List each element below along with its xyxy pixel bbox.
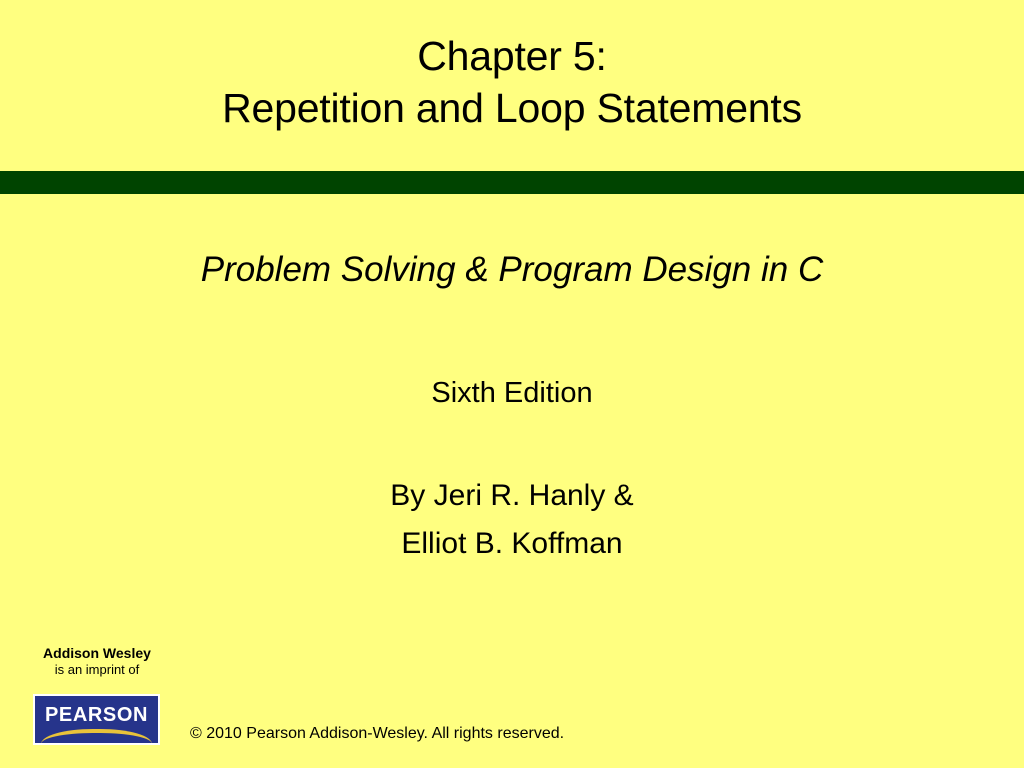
title-line-1: Chapter 5:	[0, 30, 1024, 82]
copyright-notice: © 2010 Pearson Addison-Wesley. All right…	[190, 724, 564, 744]
title-line-2: Repetition and Loop Statements	[0, 82, 1024, 134]
imprint-name: Addison Wesley	[33, 645, 161, 662]
author-line-1: By Jeri R. Hanly &	[0, 472, 1024, 520]
slide-canvas: Chapter 5: Repetition and Loop Statement…	[0, 0, 1024, 768]
author-line-2: Elliot B. Koffman	[0, 520, 1024, 568]
imprint-block: Addison Wesley is an imprint of	[33, 645, 161, 678]
authors-block: By Jeri R. Hanly & Elliot B. Koffman	[0, 472, 1024, 568]
book-title: Problem Solving & Program Design in C	[0, 248, 1024, 292]
page-title: Chapter 5: Repetition and Loop Statement…	[0, 30, 1024, 134]
imprint-subtext: is an imprint of	[33, 662, 161, 678]
pearson-arc-icon	[41, 729, 152, 745]
edition-label: Sixth Edition	[0, 374, 1024, 412]
green-divider-bar	[0, 171, 1024, 194]
pearson-logo: PEARSON	[33, 694, 160, 745]
pearson-wordmark: PEARSON	[35, 704, 158, 726]
